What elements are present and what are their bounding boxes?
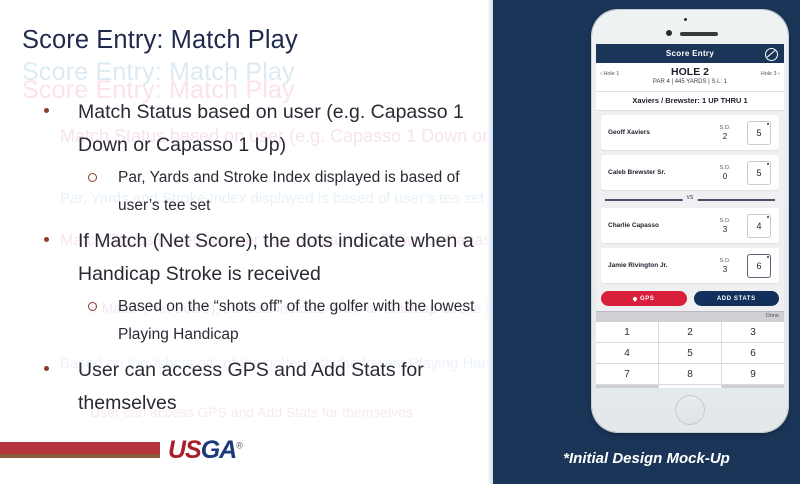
shots-off: S.O. 3 [703,257,747,275]
score-input[interactable]: 4 [747,214,771,238]
gps-button[interactable]: GPS [601,291,687,306]
shots-off-label: S.O. [703,124,747,132]
action-buttons: GPS ADD STATS [596,288,784,311]
app-bar: Score Entry [596,44,784,63]
table-row[interactable]: Caleb Brewster Sr. S.O. 0 5 [601,155,779,190]
score-value: 6 [756,261,761,271]
keypad-row: 7 8 9 [596,364,784,385]
list-item-text: Based on the “shots off” of the golfer w… [118,298,474,343]
footer-red-bar [0,442,160,458]
key-8[interactable]: 8 [659,364,722,385]
shots-off-value: 2 [703,132,747,142]
key-9[interactable]: 9 [722,364,784,385]
key-3[interactable]: 3 [722,322,784,343]
player-name: Jamie Rivington Jr. [601,262,703,269]
home-button[interactable] [675,395,705,425]
usga-logo-ga: GA [201,436,237,464]
speaker-grill [680,32,718,36]
shots-off-value: 3 [703,265,747,275]
shots-off-label: S.O. [703,217,747,225]
list-item-text: If Match (Net Score), the dots indicate … [78,230,474,285]
handicap-stroke-dot-icon [767,256,769,258]
key-4[interactable]: 4 [596,343,659,364]
list-item-text: Match Status based on user (e.g. Capasso… [78,101,464,156]
phone-screen: Score Entry ‹ Hole 1 Hole 3 › HOLE 2 PAR… [596,44,784,388]
list-item: User can access GPS and Add Stats for th… [0,354,493,420]
page-title: Score Entry: Match Play [22,26,298,55]
prev-hole-button[interactable]: ‹ Hole 1 [600,71,619,77]
list-item: If Match (Net Score), the dots indicate … [0,225,493,291]
bullet-list: Match Status based on user (e.g. Capasso… [0,96,493,422]
slide-left-content: Score Entry: Match Play Score Entry: Mat… [0,0,493,484]
bullet-dot-icon [44,108,49,113]
list-item: Based on the “shots off” of the golfer w… [0,293,493,349]
hole-navigation: ‹ Hole 1 Hole 3 › HOLE 2 PAR 4 | 445 YAR… [596,63,784,92]
list-item: Par, Yards and Stroke Index displayed is… [0,164,493,220]
usga-logo-trademark: ® [236,441,242,451]
key-6[interactable]: 6 [722,343,784,364]
vs-divider: VS [601,195,779,204]
key-5[interactable]: 5 [659,343,722,364]
keypad-row: 4 5 6 [596,343,784,364]
hole-title: HOLE 2 [596,66,784,78]
keypad-row: 1 2 3 [596,322,784,343]
score-input[interactable]: 5 [747,161,771,185]
handicap-stroke-dot-icon [767,216,769,218]
bullet-circle-icon [88,173,97,182]
match-status-banner: Xaviers / Brewster: 1 UP THRU 1 [596,92,784,111]
usga-logo: USGA® [168,436,242,465]
score-input[interactable]: 5 [747,121,771,145]
add-stats-button-label: ADD STATS [717,296,756,302]
backspace-key[interactable] [722,385,784,388]
score-input-selected[interactable]: 6 [747,254,771,278]
shots-off-value: 3 [703,225,747,235]
usga-logo-us: US [168,436,201,464]
table-row[interactable]: Geoff Xaviers S.O. 2 5 [601,115,779,150]
phone-top-bezel [592,10,788,44]
key-blank [596,385,659,388]
shots-off: S.O. 3 [703,217,747,235]
handicap-stroke-dot-icon [767,123,769,125]
hole-details: PAR 4 | 445 YARDS | S.I.: 1 [596,78,784,87]
add-stats-button[interactable]: ADD STATS [694,291,780,306]
score-value: 5 [756,128,761,138]
numeric-keypad: 1 2 3 4 5 6 7 8 9 0 [596,322,784,388]
mockup-caption: *Initial Design Mock-Up [493,450,800,467]
bullet-circle-icon [88,302,97,311]
slide: Score Entry: Match Play Score Entry: Mat… [0,0,800,484]
table-row[interactable]: Jamie Rivington Jr. S.O. 3 6 [601,248,779,283]
app-bar-title: Score Entry [666,49,714,58]
gps-button-label: GPS [640,296,654,302]
handicap-stroke-dot-icon [767,163,769,165]
keypad-row: 0 [596,385,784,388]
prev-hole-label: Hole 1 [603,71,619,77]
key-1[interactable]: 1 [596,322,659,343]
sensor-icon [684,18,687,21]
score-value: 4 [756,221,761,231]
slash-circle-icon[interactable] [765,48,778,61]
shots-off-label: S.O. [703,257,747,265]
next-hole-button[interactable]: Hole 3 › [761,71,780,77]
vs-label: VS [683,195,698,201]
phone-mockup: Score Entry ‹ Hole 1 Hole 3 › HOLE 2 PAR… [592,10,788,432]
key-7[interactable]: 7 [596,364,659,385]
bullet-dot-icon [44,366,49,371]
keyboard-done-button[interactable]: Done [766,313,779,319]
ghost-title-1: Score Entry: Match Play [22,58,295,87]
player-name: Charlie Capasso [601,222,703,229]
score-value: 5 [756,168,761,178]
camera-icon [666,30,672,36]
bullet-dot-icon [44,237,49,242]
list-item-text: User can access GPS and Add Stats for th… [78,359,424,414]
player-name: Geoff Xaviers [601,129,703,136]
list-item: Match Status based on user (e.g. Capasso… [0,96,493,162]
key-2[interactable]: 2 [659,322,722,343]
list-item-text: Par, Yards and Stroke Index displayed is… [118,169,460,214]
table-row[interactable]: Charlie Capasso S.O. 3 4 [601,208,779,243]
player-list: Geoff Xaviers S.O. 2 5 Caleb Brewster Sr… [596,111,784,283]
next-hole-label: Hole 3 [761,71,777,77]
player-name: Caleb Brewster Sr. [601,169,703,176]
location-pin-icon [632,296,638,302]
shots-off-value: 0 [703,172,747,182]
shots-off: S.O. 0 [703,164,747,182]
keyboard-toolbar: Done [596,311,784,322]
key-0[interactable]: 0 [659,385,722,388]
shots-off: S.O. 2 [703,124,747,142]
shots-off-label: S.O. [703,164,747,172]
